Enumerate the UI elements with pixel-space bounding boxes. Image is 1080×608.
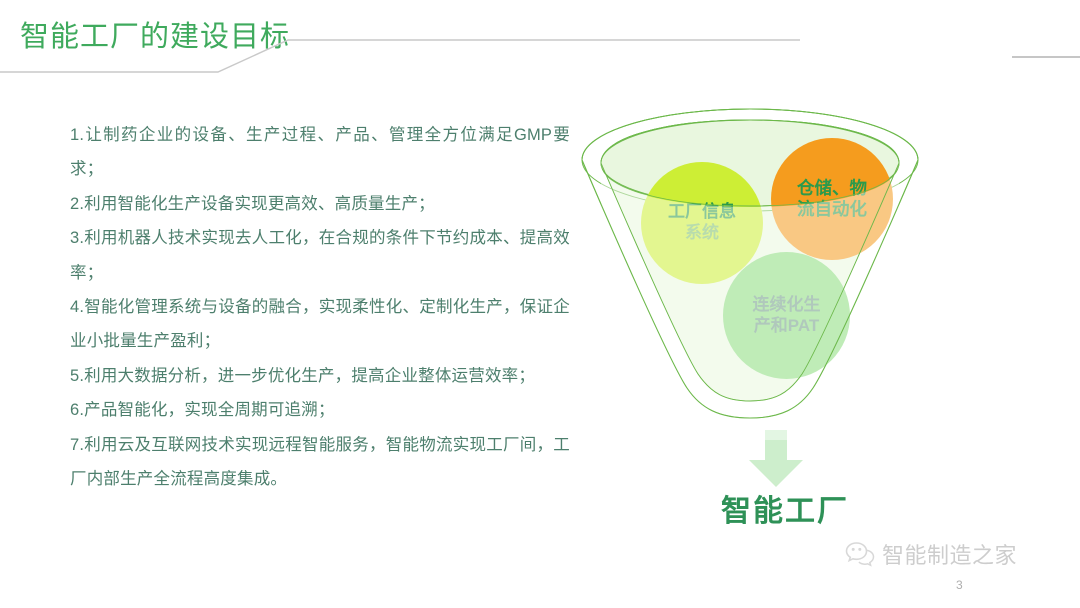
page-title: 智能工厂的建设目标 xyxy=(20,13,290,55)
slide-canvas: 智能工厂的建设目标 1.让制药企业的设备、生产过程、产品、管理全方位满足GMP要… xyxy=(0,0,1080,608)
bubble-logistics-line1: 仓储、物 xyxy=(797,178,867,199)
bubble-warehouse-logistics-automation[interactable]: 仓储、物 流自动化 xyxy=(771,138,893,260)
bubble-continuous-production-pat[interactable]: 连续化生 产和PAT xyxy=(723,252,850,379)
goal-item-4: 4.智能化管理系统与设备的融合，实现柔性化、定制化生产，保证企业小批量生产盈利； xyxy=(70,290,570,359)
watermark-text: 智能制造之家 xyxy=(882,538,1017,570)
page-number: 3 xyxy=(956,578,963,592)
bubble-info-line1: 工厂信息 xyxy=(668,202,736,223)
goals-list: 1.让制药企业的设备、生产过程、产品、管理全方位满足GMP要求； 2.利用智能化… xyxy=(70,118,570,496)
outcome-label: 智能工厂 xyxy=(640,486,930,530)
wechat-icon xyxy=(845,541,875,567)
bubble-pat-line2: 产和PAT xyxy=(754,316,819,337)
goal-item-5: 5.利用大数据分析，进一步优化生产，提高企业整体运营效率； xyxy=(70,359,570,393)
goal-item-1: 1.让制药企业的设备、生产过程、产品、管理全方位满足GMP要求； xyxy=(70,118,570,187)
goal-item-2: 2.利用智能化生产设备实现更高效、高质量生产； xyxy=(70,187,570,221)
goal-item-6: 6.产品智能化，实现全周期可追溯； xyxy=(70,393,570,427)
bubble-logistics-line2: 流自动化 xyxy=(797,199,867,220)
watermark: 智能制造之家 xyxy=(845,538,1017,570)
bubble-factory-information-system[interactable]: 工厂信息 系统 xyxy=(641,162,763,284)
funnel-diagram: 工厂信息 系统 仓储、物 流自动化 连续化生 产和PAT xyxy=(575,100,925,450)
goal-item-7: 7.利用云及互联网技术实现远程智能服务，智能物流实现工厂间，工厂内部生产全流程高… xyxy=(70,428,570,497)
down-arrow-icon xyxy=(745,430,807,488)
goal-item-3: 3.利用机器人技术实现去人工化，在合规的条件下节约成本、提高效率； xyxy=(70,221,570,290)
bubble-info-line2: 系统 xyxy=(685,223,719,244)
bubble-pat-line1: 连续化生 xyxy=(753,295,821,316)
